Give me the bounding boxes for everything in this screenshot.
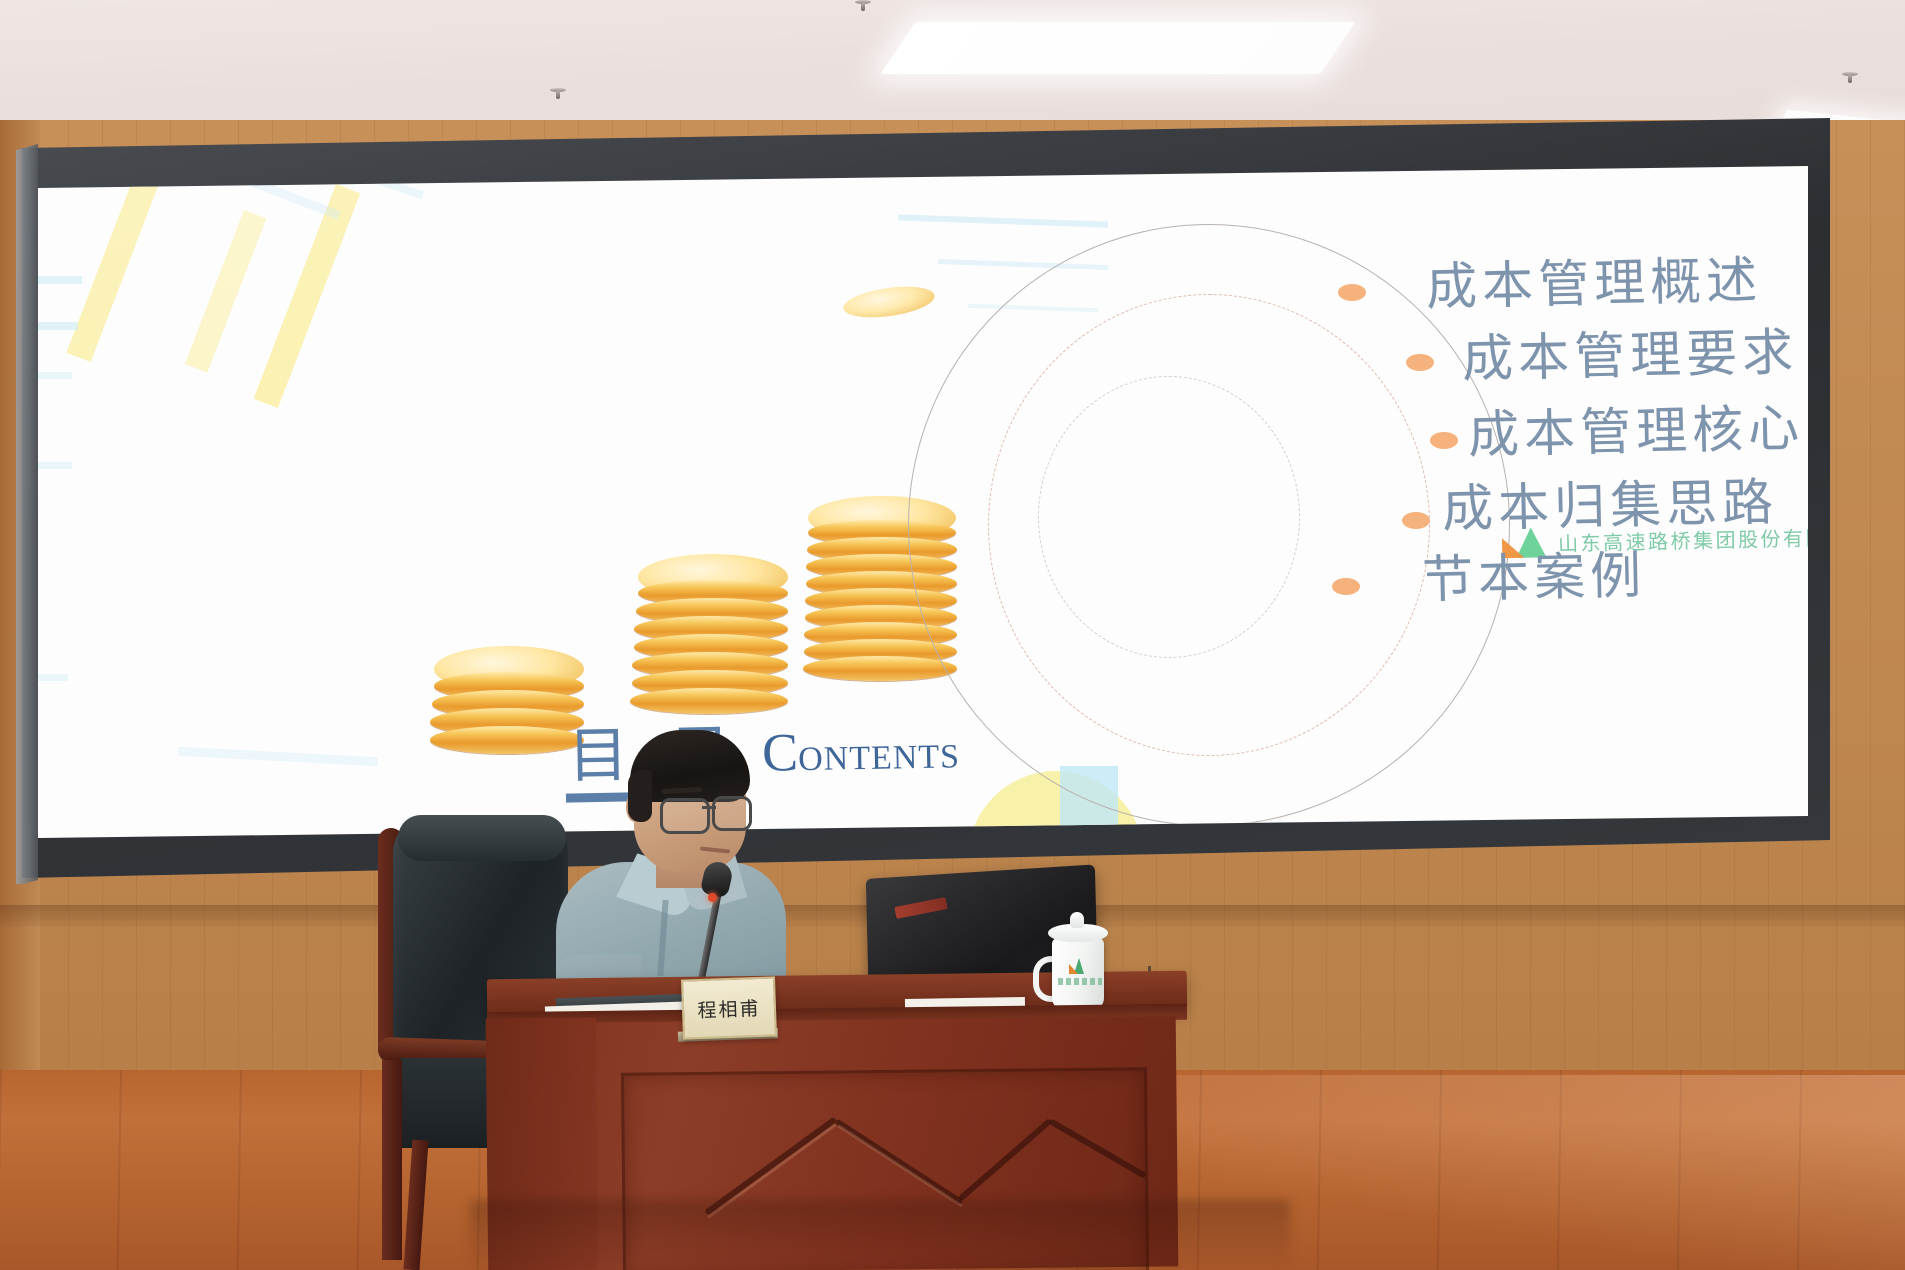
toc-item-2: 成本管理要求 (1461, 310, 1798, 391)
orbit-ring-dashed-inner (1038, 376, 1300, 658)
decor-line-blue (178, 747, 378, 766)
mug-lid-knob (1070, 912, 1084, 928)
mug-company-a-mark-icon (1069, 958, 1085, 974)
orbit-dot (1338, 284, 1366, 301)
mug-body (1052, 938, 1104, 1010)
mug-company-text (1058, 978, 1102, 985)
toc-item-4: 成本归集思路 (1441, 460, 1778, 541)
decor-line-blue (38, 674, 68, 681)
eyeglasses-left-lens (660, 798, 710, 834)
nameplate-text: 程相甫 (697, 993, 761, 1022)
projection-screen: 目 录 CONTENTS 山东高速路桥集团股份有限公司 成本管理概述 成本管理要… (0, 118, 1830, 886)
decor-bar-yellow (254, 184, 361, 408)
contents-initial: C (761, 722, 798, 783)
orbit-dot (1402, 512, 1430, 529)
decor-bar-yellow (185, 210, 267, 373)
toc-item-5: 节本案例 (1421, 534, 1647, 613)
conference-room-photo: 目 录 CONTENTS 山东高速路桥集团股份有限公司 成本管理概述 成本管理要… (0, 0, 1905, 1270)
presentation-slide: 目 录 CONTENTS 山东高速路桥集团股份有限公司 成本管理概述 成本管理要… (38, 166, 1808, 838)
decor-line-blue (38, 322, 78, 330)
chair-headrest (398, 815, 566, 861)
podium-floor-reflection (470, 1200, 1290, 1270)
decor-line-blue (38, 462, 72, 469)
contents-rest: ONTENTS (798, 738, 961, 778)
toc-title-en: CONTENTS (761, 718, 960, 783)
chair-leg (382, 1060, 402, 1260)
screen-bezel-highlight (16, 144, 38, 884)
fire-sprinkler-head (1842, 72, 1858, 81)
toc-item-1: 成本管理概述 (1425, 238, 1762, 319)
decor-line-blue (38, 276, 82, 284)
orbit-dot (1406, 354, 1434, 371)
nameplate: 程相甫 (681, 976, 777, 1039)
orbit-dot (1430, 432, 1458, 449)
decor-line-blue (38, 372, 72, 379)
coin-single (841, 282, 936, 323)
decor-bar-yellow (66, 166, 162, 362)
eyeglasses-bridge (702, 806, 716, 809)
ceiling-led-panel (880, 22, 1355, 74)
fire-sprinkler-head (855, 0, 871, 9)
orbit-dot (1332, 578, 1360, 595)
microphone-status-led (708, 893, 717, 902)
person-hair-sideburn (628, 770, 652, 822)
decor-line-blue (898, 214, 1108, 227)
fire-sprinkler-head (550, 88, 566, 97)
eyeglasses-right-lens (712, 796, 752, 831)
toc-item-3: 成本管理核心 (1467, 386, 1804, 467)
